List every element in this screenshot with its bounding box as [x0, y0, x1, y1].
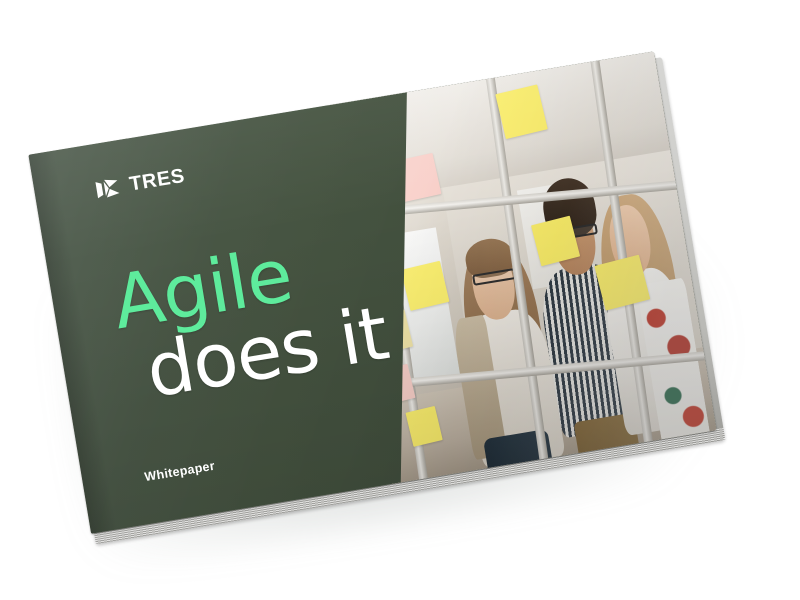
book-mockup-scene: TRES Agile does it Whitepaper	[0, 0, 800, 600]
tres-logo-icon	[93, 173, 123, 203]
